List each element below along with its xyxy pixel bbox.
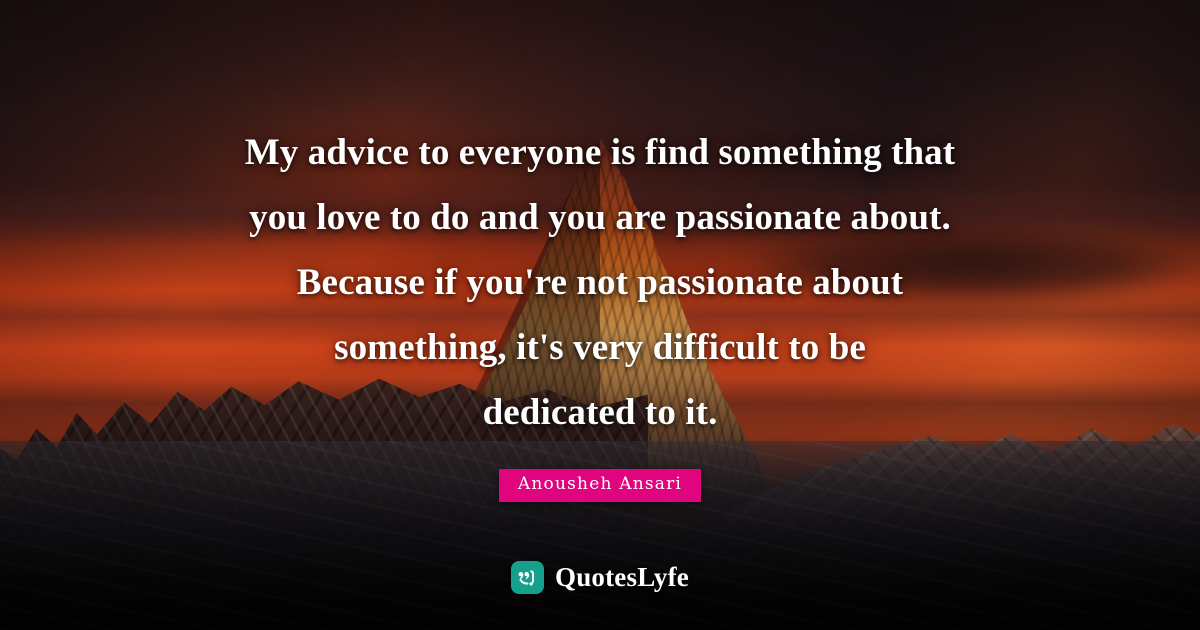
quote-line: Because if you're not passionate about [100,250,1100,315]
card-content: My advice to everyone is find something … [0,0,1200,630]
quote-card: My advice to everyone is find something … [0,0,1200,630]
quote-line: you love to do and you are passionate ab… [100,185,1100,250]
brand-name: QuotesLyfe [555,562,689,593]
quote-line: something, it's very difficult to be [100,315,1100,380]
brand-logo[interactable]: QuotesLyfe [511,561,689,594]
quote-text: My advice to everyone is find something … [100,120,1100,445]
quote-line: My advice to everyone is find something … [100,120,1100,185]
author-badge[interactable]: Anousheh Ansari [499,469,701,502]
quote-smiley-icon [511,561,544,594]
quote-line: dedicated to it. [100,380,1100,445]
